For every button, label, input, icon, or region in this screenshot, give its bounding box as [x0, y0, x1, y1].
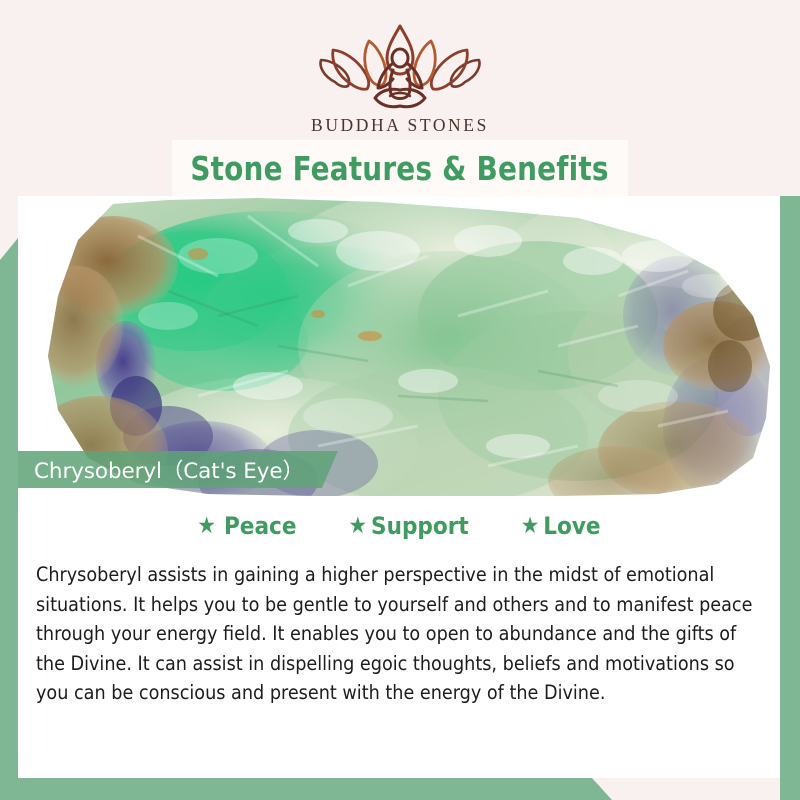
stone-description: Chrysoberyl assists in gaining a higher …	[36, 560, 764, 708]
stone-name-text: Chrysoberyl（Cat's Eye）	[34, 454, 304, 485]
page-title: Stone Features & Benefits	[191, 149, 609, 188]
keyword-love: ★ Love	[521, 512, 601, 540]
stone-info-card: BUDDHA STONES Stone Features & Benefits	[0, 0, 800, 800]
keyword-peace: ★ Peace	[197, 512, 296, 540]
card-header: BUDDHA STONES Stone Features & Benefits	[0, 0, 800, 196]
keyword-label: Love	[543, 512, 600, 540]
brand-logo: BUDDHA STONES	[0, 18, 800, 136]
star-icon: ★	[521, 515, 540, 538]
frame-band-bottom	[0, 778, 612, 800]
title-banner: Stone Features & Benefits	[172, 140, 628, 196]
brand-name: BUDDHA STONES	[0, 115, 800, 136]
keyword-label: Support	[371, 512, 469, 540]
star-icon: ★	[197, 515, 216, 538]
lotus-meditation-figure-logo-icon	[305, 18, 495, 114]
keyword-support: ★ Support	[348, 512, 468, 540]
star-icon: ★	[348, 515, 367, 538]
keyword-label: Peace	[224, 512, 296, 540]
keyword-row: ★ Peace ★ Support ★ Love	[18, 512, 780, 540]
stone-name-label: Chrysoberyl（Cat's Eye）	[18, 451, 338, 488]
frame-band-left	[0, 238, 18, 800]
